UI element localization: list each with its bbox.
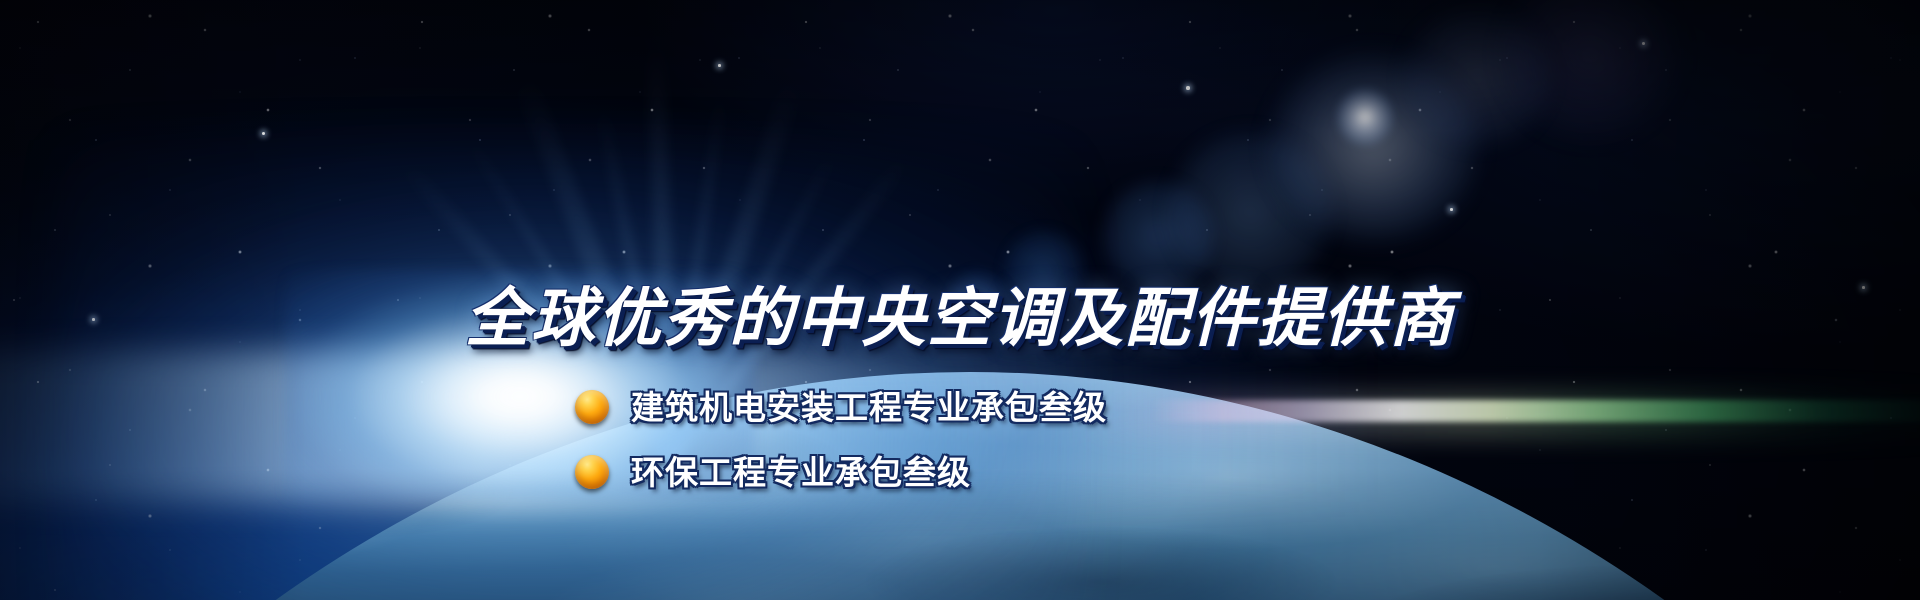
banner-headline: 全球优秀的中央空调及配件提供商 xyxy=(0,287,1920,351)
qualification-list: 建筑机电安装工程专业承包叁级 环保工程专业承包叁级 xyxy=(575,378,1107,508)
list-item: 建筑机电安装工程专业承包叁级 xyxy=(575,378,1107,436)
list-item-label: 建筑机电安装工程专业承包叁级 xyxy=(631,391,1107,424)
list-item: 环保工程专业承包叁级 xyxy=(575,443,1107,501)
orange-sphere-bullet-icon xyxy=(575,390,609,424)
banner-content: 全球优秀的中央空调及配件提供商 建筑机电安装工程专业承包叁级 环保工程专业承包叁… xyxy=(0,0,1920,600)
hero-banner: 全球优秀的中央空调及配件提供商 建筑机电安装工程专业承包叁级 环保工程专业承包叁… xyxy=(0,0,1920,600)
list-item-label: 环保工程专业承包叁级 xyxy=(631,456,971,489)
orange-sphere-bullet-icon xyxy=(575,455,609,489)
